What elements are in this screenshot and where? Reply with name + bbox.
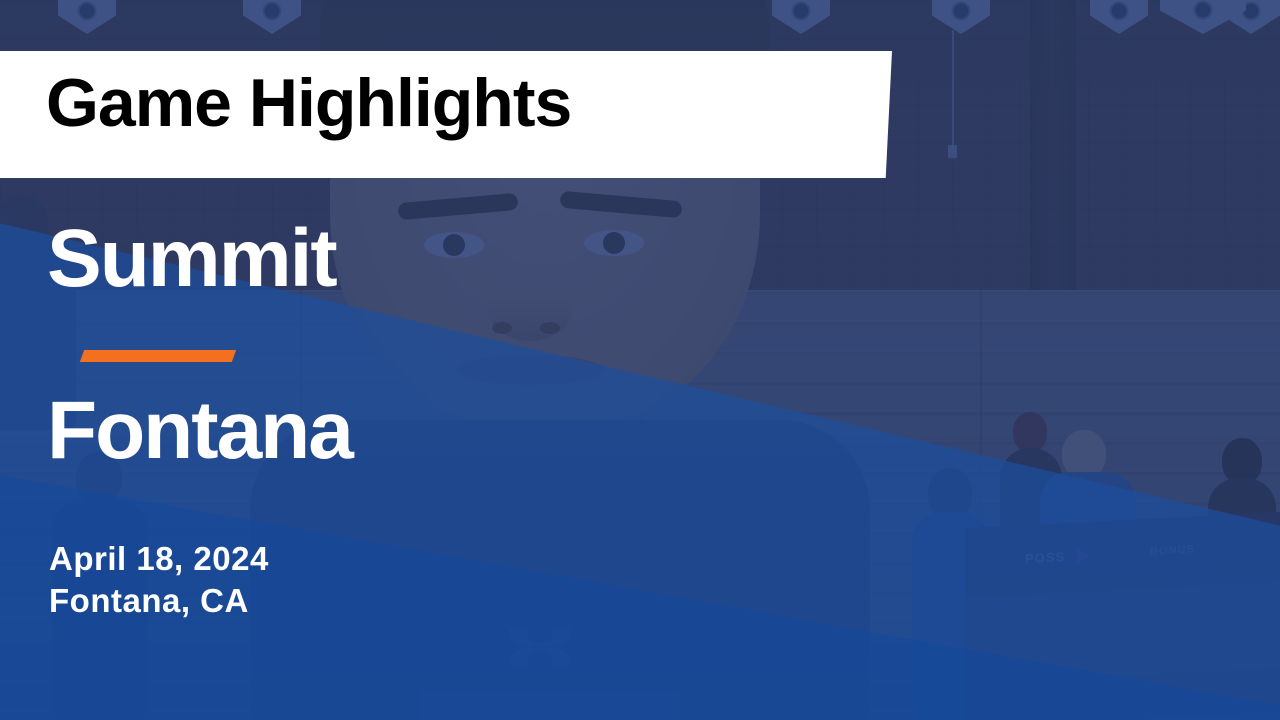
highlight-graphic-card: FINALIST — [0, 0, 1280, 720]
team-name-home: Summit — [47, 218, 336, 300]
team-name-away: Fontana — [47, 390, 352, 472]
game-date: April 18, 2024 — [49, 538, 269, 580]
page-title: Game Highlights — [46, 69, 571, 137]
orange-divider — [80, 350, 236, 362]
game-meta: April 18, 2024 Fontana, CA — [49, 538, 269, 621]
game-location: Fontana, CA — [49, 580, 269, 622]
